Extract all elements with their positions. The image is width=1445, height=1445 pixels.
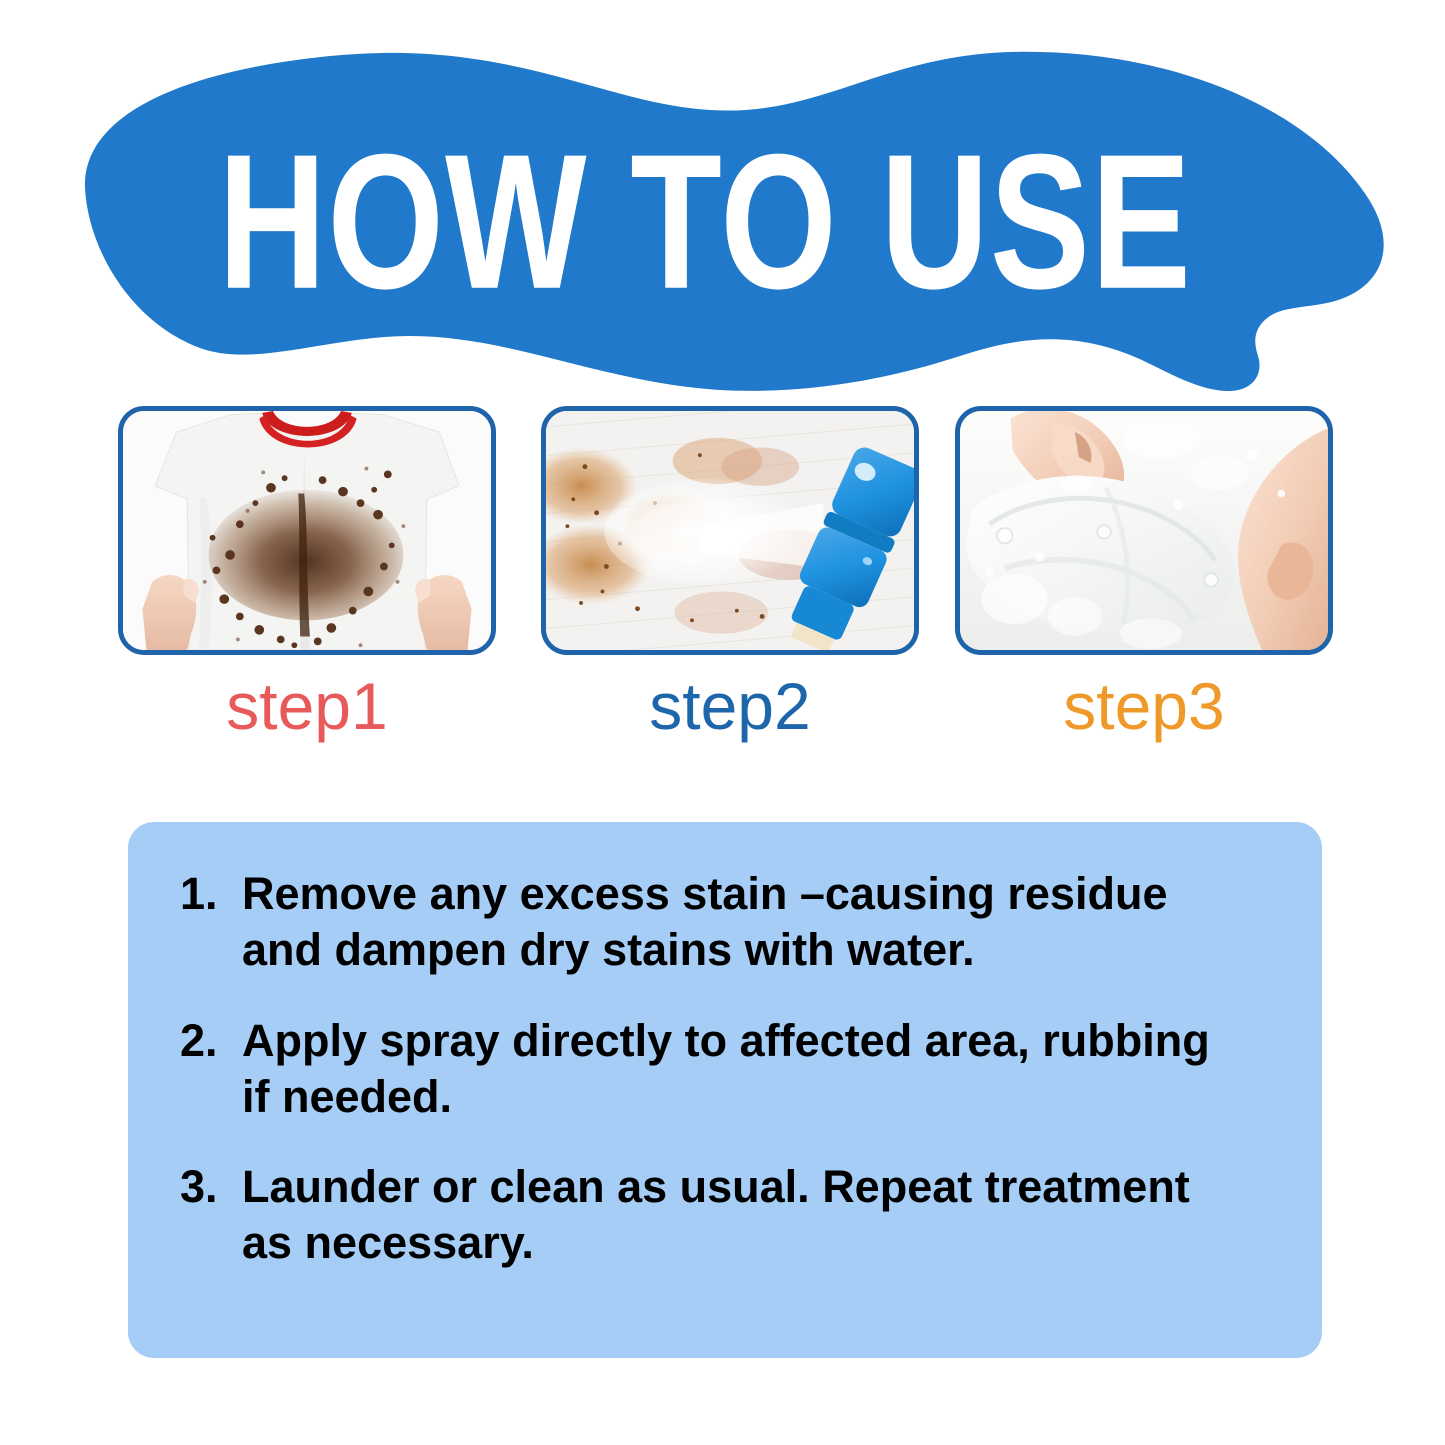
instruction-number: 1. [180, 866, 242, 922]
step-item-1: step1 [118, 406, 496, 739]
step-2-label: step2 [541, 673, 919, 739]
instructions-panel: 1. Remove any excess stain –causing resi… [128, 822, 1322, 1358]
instruction-number: 2. [180, 1013, 242, 1069]
step-1-label: step1 [118, 673, 496, 739]
step-1-image-frame [118, 406, 496, 655]
step-item-2: step2 [541, 406, 919, 739]
instruction-text: Launder or clean as usual. Repeat treatm… [242, 1159, 1242, 1272]
steps-row: step1 [0, 406, 1445, 766]
hand-washing-photo [960, 411, 1328, 650]
spray-applying-photo [546, 411, 914, 650]
header-banner: HOW TO USE [80, 48, 1405, 393]
step-3-label: step3 [955, 673, 1333, 739]
instruction-item: 3. Launder or clean as usual. Repeat tre… [180, 1159, 1282, 1272]
step-item-3: step3 [955, 406, 1333, 739]
instruction-number: 3. [180, 1159, 242, 1215]
step-3-image-frame [955, 406, 1333, 655]
instruction-text: Remove any excess stain –causing residue… [242, 866, 1242, 979]
page-title: HOW TO USE [80, 0, 1330, 441]
instruction-text: Apply spray directly to affected area, r… [242, 1013, 1242, 1126]
step-2-image-frame [541, 406, 919, 655]
instruction-item: 2. Apply spray directly to affected area… [180, 1013, 1282, 1126]
instruction-item: 1. Remove any excess stain –causing resi… [180, 866, 1282, 979]
stained-tshirt-photo [123, 411, 491, 650]
